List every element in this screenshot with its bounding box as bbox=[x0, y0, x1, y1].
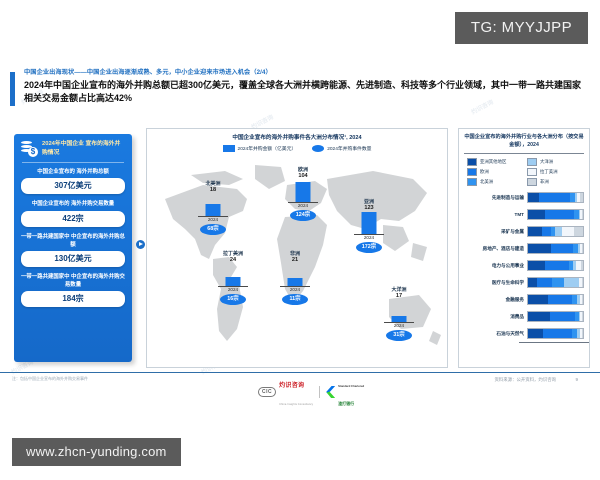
marker-deals: 124宗 bbox=[290, 210, 316, 221]
legend-item-amount: 2024年并购金额（亿美元） bbox=[223, 145, 297, 152]
bar-segment bbox=[564, 278, 578, 287]
stat-label: 一带一路共建国家中 中企宣布的海外并购交易数量 bbox=[21, 273, 125, 289]
industry-label: TMT bbox=[464, 212, 527, 217]
slide-subtitle: 中国企业出海现状——中国企业出海逐渐成熟、多元，中小企业迎来市场进入机会（2/4… bbox=[24, 70, 590, 76]
standard-chartered-logo: Standard Chartered 渣打银行 bbox=[326, 374, 364, 410]
marker-deals: 172宗 bbox=[356, 242, 382, 253]
bar-segment bbox=[528, 244, 551, 253]
marker-amount: 24 bbox=[206, 257, 260, 264]
summary-panel-title: 2024年中国企业 宣布的海外并购情况 bbox=[42, 140, 126, 157]
marker-year: 2024 bbox=[342, 235, 396, 241]
bar-segment bbox=[582, 295, 583, 304]
bar-segment bbox=[528, 329, 543, 338]
marker-deals: 11宗 bbox=[282, 294, 308, 305]
sc-logo-en: Standard Chartered bbox=[338, 384, 364, 388]
source-note: 资料来源：公开资料，灼识咨询 bbox=[495, 377, 556, 383]
industry-bar-row: 电力与公用事业 bbox=[464, 257, 584, 274]
stat-label: 一带一路共建国家中 中企宣布的海外并购总额 bbox=[21, 233, 125, 249]
stat-label: 中国企业宣布的 海外并购交易数量 bbox=[21, 200, 125, 208]
stacked-bar bbox=[527, 209, 584, 220]
map-marker-europe: 欧洲 104 2024 124宗 bbox=[276, 167, 330, 221]
stacked-bar bbox=[527, 277, 584, 288]
legend-label: 欧洲 bbox=[480, 169, 489, 175]
marker-amount: 18 bbox=[186, 187, 240, 194]
divider bbox=[22, 162, 124, 163]
bar-segment bbox=[528, 210, 545, 219]
ellipse-swatch-icon bbox=[312, 145, 324, 152]
industry-label: 房地产、酒店与建造 bbox=[464, 246, 527, 251]
stacked-bar bbox=[527, 226, 584, 237]
page-number: 9 bbox=[575, 377, 578, 382]
map-marker-asia: 亚洲 123 2024 172宗 bbox=[342, 199, 396, 253]
marker-year: 2024 bbox=[186, 217, 240, 223]
stat-block: 中国企业宣布的 海外并购总额 307亿美元 bbox=[21, 168, 125, 194]
bar-segment bbox=[582, 244, 583, 253]
legend-item: 大洋洲 bbox=[527, 158, 583, 166]
map-distribution-card: 中国企业宣布的海外并购事件各大洲分布情况¹, 2024 2024年并购金额（亿美… bbox=[146, 128, 448, 368]
color-swatch-icon bbox=[527, 178, 537, 186]
stat-block: 一带一路共建国家中 中企宣布的海外并购交易数量 184宗 bbox=[21, 273, 125, 307]
industry-bar-row: 先进制造与运输 bbox=[464, 189, 584, 206]
industry-bar-row: TMT bbox=[464, 206, 584, 223]
cic-mark: CIC bbox=[258, 387, 276, 397]
bar-segment bbox=[528, 261, 545, 270]
bar-segment bbox=[582, 329, 583, 338]
legend-item: 亚洲其他地区 bbox=[467, 158, 523, 166]
footer-divider bbox=[0, 372, 600, 373]
cic-logo: CIC 灼识咨询 China Insights Consultancy bbox=[258, 374, 313, 410]
map-title: 中国企业宣布的海外并购事件各大洲分布情况¹, 2024 bbox=[147, 133, 447, 141]
legend-item: 非洲 bbox=[527, 178, 583, 186]
summary-panel-header: $ 2024年中国企业 宣布的海外并购情况 bbox=[14, 134, 132, 161]
square-swatch-icon bbox=[223, 145, 235, 152]
bar-segment bbox=[539, 193, 570, 202]
bar-segment bbox=[542, 227, 551, 236]
tag-badge: TG: MYYJJPP bbox=[455, 12, 588, 44]
marker-amount: 17 bbox=[372, 293, 426, 300]
bar-segment bbox=[552, 278, 564, 287]
map-marker-latin-america: 拉丁美洲 24 2024 16宗 bbox=[206, 251, 260, 305]
bar-segment bbox=[528, 312, 550, 321]
bar-segment bbox=[528, 295, 548, 304]
cic-logo-en: China Insights Consultancy bbox=[279, 403, 313, 406]
bar-segment bbox=[574, 227, 583, 236]
legend-label: 2024年并购事件数量 bbox=[327, 145, 371, 152]
coins-dollar-icon: $ bbox=[21, 140, 38, 157]
stat-value: 184宗 bbox=[21, 291, 125, 307]
stacked-bar bbox=[527, 192, 584, 203]
marker-amount: 104 bbox=[276, 173, 330, 180]
color-swatch-icon bbox=[467, 178, 477, 186]
sc-logo-cn: 渣打银行 bbox=[338, 401, 354, 406]
marker-year: 2024 bbox=[268, 287, 322, 293]
bar-segment bbox=[548, 295, 572, 304]
bar-segment bbox=[562, 227, 574, 236]
bar-segment bbox=[581, 261, 583, 270]
accent-bar bbox=[10, 72, 15, 106]
stacked-bar bbox=[527, 311, 584, 322]
bar-segment bbox=[528, 227, 542, 236]
legend-label: 北美洲 bbox=[480, 179, 493, 185]
industry-label: 金融服务 bbox=[464, 297, 527, 302]
marker-amount: 123 bbox=[342, 205, 396, 212]
color-swatch-icon bbox=[527, 158, 537, 166]
marker-year: 2024 bbox=[276, 203, 330, 209]
url-badge: www.zhcn-yunding.com bbox=[12, 438, 181, 466]
marker-year: 2024 bbox=[206, 287, 260, 293]
chart-axis bbox=[519, 342, 589, 344]
slide-canvas: 灼识咨询 灼识咨询 灼识咨询 CIC 灼识咨询 CIC 灼识咨询 灼识咨询 灼识… bbox=[0, 62, 600, 412]
color-swatch-icon bbox=[467, 158, 477, 166]
bar-segment bbox=[528, 193, 539, 202]
bar-segment bbox=[543, 329, 572, 338]
stacked-bar bbox=[527, 243, 584, 254]
stat-label: 中国企业宣布的 海外并购总额 bbox=[21, 168, 125, 176]
industry-label: 消费品 bbox=[464, 314, 527, 319]
color-swatch-icon bbox=[467, 168, 477, 176]
cic-logo-cn: 灼识咨询 bbox=[279, 383, 304, 389]
bar-segment bbox=[555, 227, 562, 236]
map-marker-oceania: 大洋洲 17 2024 31宗 bbox=[372, 287, 426, 341]
divider bbox=[319, 386, 320, 398]
stacked-bar bbox=[527, 294, 584, 305]
legend-label: 亚洲其他地区 bbox=[480, 159, 506, 165]
slide-headline: 2024年中国企业宣布的海外并购总额已超300亿美元，覆盖全球各大洲并横跨能源、… bbox=[24, 79, 590, 105]
stat-block: 中国企业宣布的 海外并购交易数量 422宗 bbox=[21, 200, 125, 226]
bar-segment bbox=[537, 278, 552, 287]
map-marker-north-america: 北美洲 18 2024 68宗 bbox=[186, 181, 240, 235]
industry-bar-row: 消费品 bbox=[464, 308, 584, 325]
industry-bar-row: 医疗与生命科学 bbox=[464, 274, 584, 291]
legend-item: 欧洲 bbox=[467, 168, 523, 176]
color-swatch-icon bbox=[527, 168, 537, 176]
footer-logos: CIC 灼识咨询 China Insights Consultancy Stan… bbox=[258, 374, 364, 410]
marker-deals: 31宗 bbox=[386, 330, 412, 341]
bar-segment bbox=[545, 210, 575, 219]
stat-value: 307亿美元 bbox=[21, 178, 125, 194]
industry-label: 医疗与生命科学 bbox=[464, 280, 527, 285]
industry-bar-rows: 先进制造与运输TMT采矿与金属房地产、酒店与建造电力与公用事业医疗与生命科学金融… bbox=[464, 189, 584, 342]
industry-bar-row: 金融服务 bbox=[464, 291, 584, 308]
industry-bar-row: 石油与天然气 bbox=[464, 325, 584, 342]
next-arrow-icon[interactable] bbox=[136, 240, 145, 249]
industry-label: 石油与天然气 bbox=[464, 331, 527, 336]
legend-label: 2024年并购金额（亿美元） bbox=[238, 145, 297, 152]
legend-item: 拉丁美洲 bbox=[527, 168, 583, 176]
stacked-bar bbox=[527, 328, 584, 339]
industry-legend: 亚洲其他地区 大洋洲 欧洲 拉丁美洲 北美洲 非洲 bbox=[467, 158, 583, 186]
legend-item: 北美洲 bbox=[467, 178, 523, 186]
legend-label: 非洲 bbox=[540, 179, 549, 185]
industry-label: 电力与公用事业 bbox=[464, 263, 527, 268]
bar-segment bbox=[545, 261, 569, 270]
bar-segment bbox=[582, 312, 583, 321]
industry-label: 采矿与金属 bbox=[464, 229, 527, 234]
legend-item-deals: 2024年并购事件数量 bbox=[312, 145, 371, 152]
stacked-bar bbox=[527, 260, 584, 271]
bar-segment bbox=[528, 278, 537, 287]
marker-amount: 21 bbox=[268, 257, 322, 264]
industry-distribution-card: 中国企业宣布的海外并购行业与各大洲分布（按交易金额），2024 亚洲其他地区 大… bbox=[458, 128, 590, 368]
bar-segment bbox=[582, 278, 583, 287]
marker-year: 2024 bbox=[372, 323, 426, 329]
industry-label: 先进制造与运输 bbox=[464, 195, 527, 200]
marker-deals: 68宗 bbox=[200, 224, 226, 235]
legend-label: 大洋洲 bbox=[540, 159, 553, 165]
footer-note: 注：包括中国企业宣布的海外并购交易事件 bbox=[12, 376, 88, 382]
marker-deals: 16宗 bbox=[220, 294, 246, 305]
headline-block: 中国企业出海现状——中国企业出海逐渐成熟、多元，中小企业迎来市场进入机会（2/4… bbox=[10, 70, 590, 105]
bar-segment bbox=[582, 210, 583, 219]
bar-segment bbox=[580, 193, 583, 202]
industry-chart-title: 中国企业宣布的海外并购行业与各大洲分布（按交易金额），2024 bbox=[464, 133, 584, 154]
legend-label: 拉丁美洲 bbox=[540, 169, 558, 175]
stat-value: 422宗 bbox=[21, 211, 125, 227]
bar-segment bbox=[550, 312, 575, 321]
bar-segment bbox=[551, 244, 573, 253]
map-marker-africa: 非洲 21 2024 11宗 bbox=[268, 251, 322, 305]
industry-bar-row: 采矿与金属 bbox=[464, 223, 584, 240]
map-legend: 2024年并购金额（亿美元） 2024年并购事件数量 bbox=[147, 145, 447, 152]
stat-value: 130亿美元 bbox=[21, 251, 125, 267]
summary-stats-panel: $ 2024年中国企业 宣布的海外并购情况 中国企业宣布的 海外并购总额 307… bbox=[14, 134, 132, 362]
standard-chartered-icon bbox=[326, 386, 335, 398]
industry-bar-row: 房地产、酒店与建造 bbox=[464, 240, 584, 257]
stat-block: 一带一路共建国家中 中企宣布的海外并购总额 130亿美元 bbox=[21, 233, 125, 267]
